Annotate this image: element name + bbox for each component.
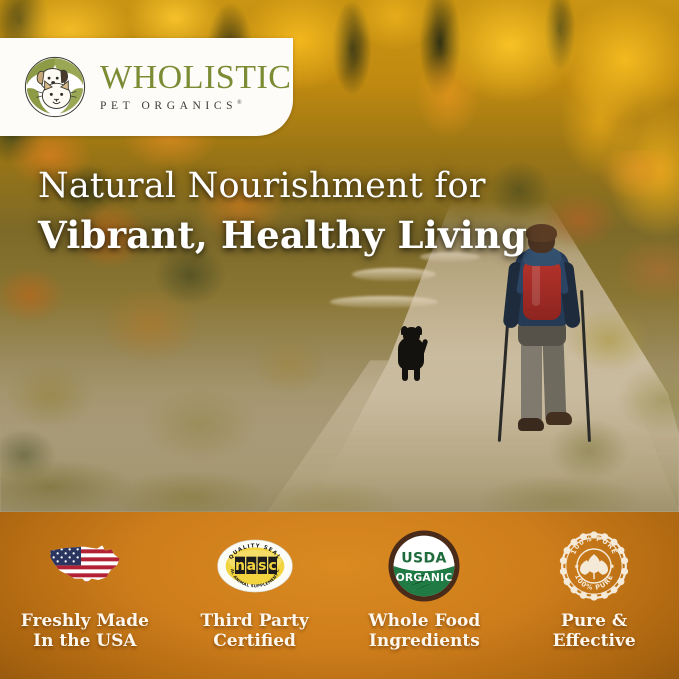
svg-text:a: a: [246, 558, 255, 574]
dog-figure: [392, 327, 430, 383]
nasc-quality-seal-icon: n a s c QUALITY SEAL NATIONAL ANIMAL SUP…: [215, 529, 295, 603]
svg-text:100% PURE: 100% PURE: [569, 535, 619, 556]
badge-pure-effective: 100% PURE 100% PURE Pure & Effective: [509, 512, 679, 679]
red-backpack: [523, 258, 561, 320]
promo-banner: Natural Nourishment for Vibrant, Healthy…: [0, 0, 679, 679]
svg-text:s: s: [258, 558, 266, 574]
badge-third-party-certified: n a s c QUALITY SEAL NATIONAL ANIMAL SUP…: [170, 512, 340, 679]
trekking-pole-right: [580, 290, 591, 442]
svg-text:USDA: USDA: [402, 550, 448, 566]
badge-label: Third Party Certified: [200, 611, 308, 652]
brand-wordmark: WHOLISTIC PET ORGANICS®: [100, 61, 291, 112]
trail-puddle: [352, 268, 436, 281]
dog-leg-right: [414, 366, 420, 381]
brand-logo-card[interactable]: WHOLISTIC PET ORGANICS®: [0, 38, 293, 136]
dog-head: [403, 327, 420, 343]
trail-puddle: [330, 296, 438, 308]
dog-cat-leaf-circle-icon: [18, 50, 92, 124]
hiker-figure: [492, 226, 602, 461]
hero-headline: Natural Nourishment for Vibrant, Healthy…: [38, 166, 527, 257]
dog-leg-left: [402, 366, 408, 381]
badge-label: Pure & Effective: [553, 611, 636, 652]
registered-trademark-icon: ®: [237, 100, 242, 106]
hiker-hair: [526, 224, 557, 242]
headline-line-1: Natural Nourishment for: [38, 166, 527, 206]
badge-whole-food-ingredients: USDA ORGANIC Whole Food Ingredients: [340, 512, 510, 679]
badge-freshly-made-usa: Freshly Made In the USA: [0, 512, 170, 679]
usa-flag-map-icon: [45, 529, 125, 603]
100-percent-pure-stamp-icon: 100% PURE 100% PURE: [554, 529, 634, 603]
backpack-highlight: [532, 264, 540, 306]
headline-line-2: Vibrant, Healthy Living: [38, 213, 527, 257]
trust-badge-bar: Freshly Made In the USA: [0, 512, 679, 679]
brand-tagline: PET ORGANICS®: [100, 100, 291, 112]
badge-label: Freshly Made In the USA: [21, 611, 149, 652]
svg-text:n: n: [235, 558, 245, 574]
hiker-boot-right: [546, 412, 572, 425]
usda-organic-seal-icon: USDA ORGANIC: [384, 529, 464, 603]
hiker-boot-left: [518, 418, 544, 431]
brand-name: WHOLISTIC: [100, 61, 291, 95]
svg-text:ORGANIC: ORGANIC: [396, 571, 453, 584]
brand-tagline-text: PET ORGANICS: [100, 100, 237, 112]
hiker-leg-left: [521, 338, 542, 424]
badge-label: Whole Food Ingredients: [369, 611, 481, 652]
